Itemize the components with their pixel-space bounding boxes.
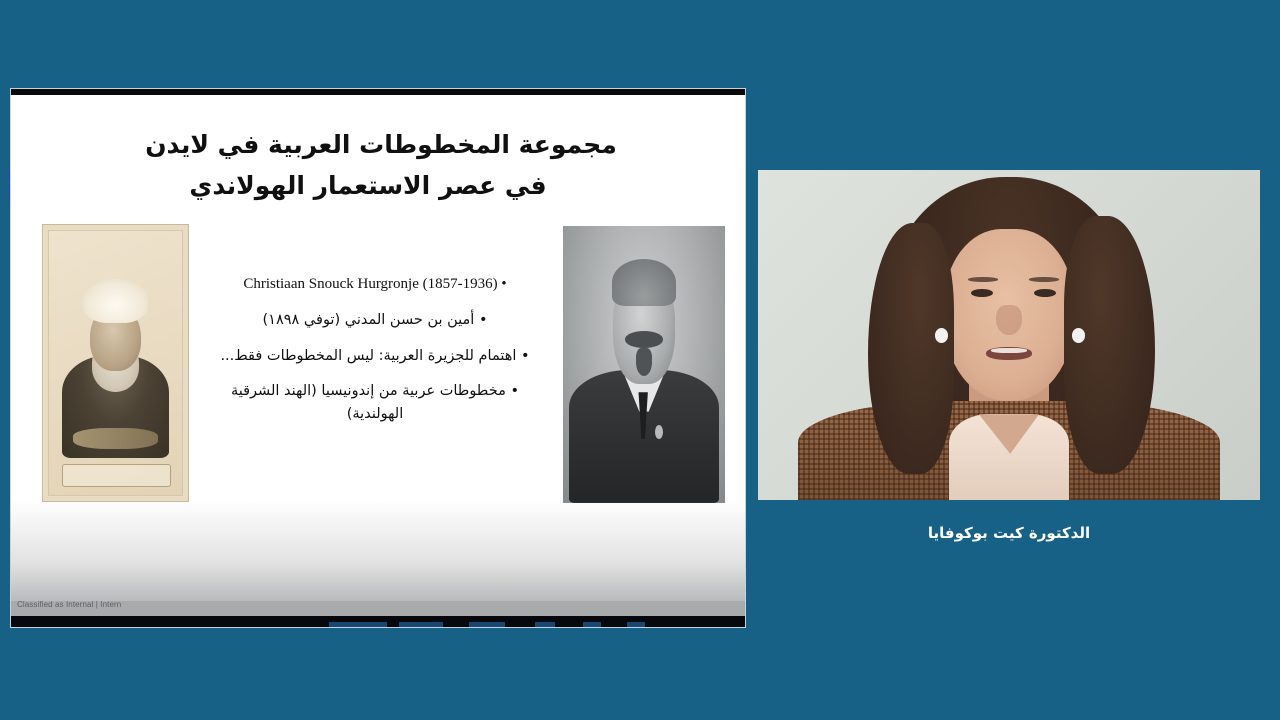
- slide-title: مجموعة المخطوطات العربية في لايدن في عصر…: [131, 125, 631, 206]
- taskbar-icon-nub: [329, 622, 387, 627]
- slide-bullet-4: مخطوطات عربية من إندونيسيا (الهند الشرقي…: [210, 380, 540, 425]
- taskbar-icon-nub: [627, 622, 645, 627]
- portrait-snouck-hurgronje: [563, 226, 725, 503]
- classification-note: Classified as Internal | Intern: [17, 600, 121, 609]
- earbud-icon: [935, 328, 948, 343]
- taskbar-icon-nub: [535, 622, 555, 627]
- slide-bullet-2: أمين بن حسن المدني (توفي ١٨٩٨): [210, 309, 540, 331]
- speaker-name-caption: الدكتورة كيت بوكوفايا: [758, 524, 1260, 542]
- slide-title-line-2: في عصر الاستعمار الهولاندي: [131, 166, 631, 207]
- slide-bullet-list: Christiaan Snouck Hurgronje (1857-1936) …: [210, 273, 540, 438]
- slide-title-line-1: مجموعة المخطوطات العربية في لايدن: [131, 125, 631, 166]
- taskbar-icon-nub: [583, 622, 601, 627]
- portrait-studio-mark: [62, 464, 170, 487]
- desktop-taskbar-strip: [11, 616, 745, 627]
- speaker-webcam-video[interactable]: [758, 170, 1260, 500]
- portrait-hair: [612, 259, 677, 306]
- shared-screen-region[interactable]: مجموعة المخطوطات العربية في لايدن في عصر…: [10, 88, 746, 628]
- speaker-eyebrow-right: [1029, 277, 1059, 281]
- meeting-stage: مجموعة المخطوطات العربية في لايدن في عصر…: [0, 0, 1280, 720]
- speaker-eye-left: [971, 289, 993, 297]
- slide-bottom-fade: [11, 500, 745, 615]
- speaker-hair-left-strand: [868, 223, 953, 474]
- speaker-eyebrow-left: [968, 277, 998, 281]
- portrait-mount: [48, 230, 183, 496]
- portrait-amin-al-madani: [42, 224, 189, 502]
- slide-bullet-3: اهتمام للجزيرة العربية: ليس المخطوطات فق…: [210, 345, 540, 367]
- speaker-eye-right: [1034, 289, 1056, 297]
- portrait-turban: [83, 279, 148, 323]
- portrait-figure: [60, 273, 172, 458]
- slide-bullet-1: Christiaan Snouck Hurgronje (1857-1936): [210, 273, 540, 296]
- portrait-moustache: [625, 331, 664, 348]
- taskbar-icon-nub: [399, 622, 443, 627]
- taskbar-icon-nub: [469, 622, 505, 627]
- portrait-goatee: [636, 348, 652, 376]
- speaker-hair-right-strand: [1064, 216, 1154, 473]
- portrait-sash: [73, 428, 158, 448]
- speaker-nose: [996, 305, 1021, 335]
- slide-surface: مجموعة المخطوطات العربية في لايدن في عصر…: [11, 95, 745, 627]
